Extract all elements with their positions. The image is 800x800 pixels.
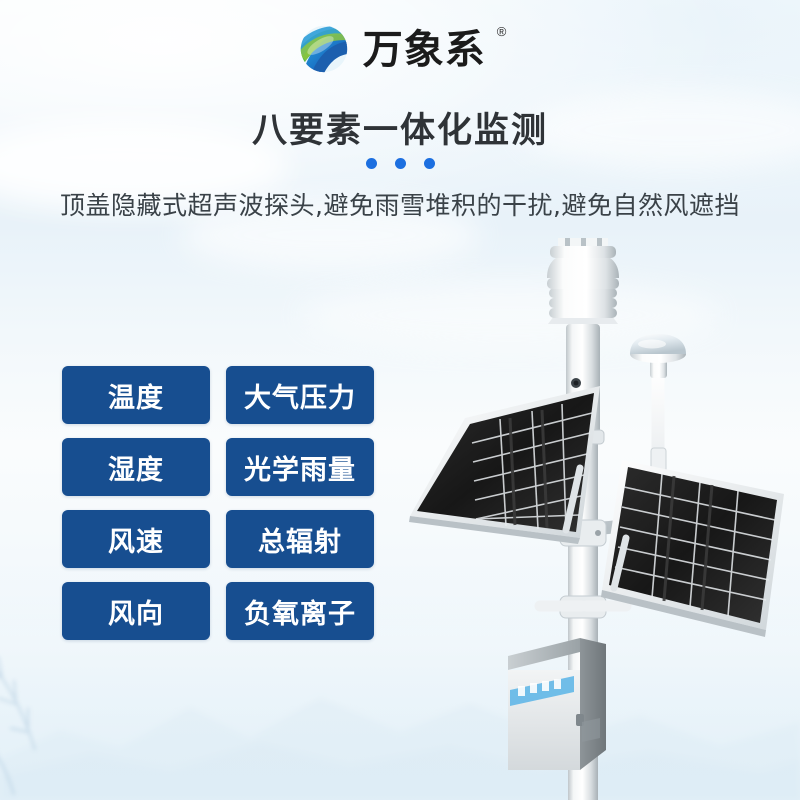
feature-tag[interactable]: 光学雨量 — [226, 438, 374, 496]
ultrasonic-sensor-head — [547, 238, 619, 324]
swirl-globe-icon — [295, 20, 353, 78]
feature-tag[interactable]: 总辐射 — [226, 510, 374, 568]
control-cabinet — [508, 638, 606, 770]
divider-dot-icon — [424, 158, 435, 169]
registered-trademark-icon: ® — [497, 24, 507, 39]
divider-dot-icon — [395, 158, 406, 169]
brand-name: 万象系 — [363, 30, 486, 70]
page-subtitle: 顶盖隐藏式超声波探头,避免雨雪堆积的干扰,避免自然风遮挡 — [0, 186, 800, 222]
solar-panel-left — [409, 386, 600, 544]
poster-canvas: 万象系 ® 八要素一体化监测 顶盖隐藏式超声波探头,避免雨雪堆积的干扰,避免自然… — [0, 0, 800, 800]
feature-tag[interactable]: 风向 — [62, 582, 210, 640]
divider-dots — [0, 158, 800, 169]
page-title: 八要素一体化监测 — [0, 102, 800, 153]
feature-tag[interactable]: 大气压力 — [226, 366, 374, 424]
divider-dot-icon — [366, 158, 377, 169]
feature-tag-grid: 温度 大气压力 湿度 光学雨量 风速 总辐射 风向 负氧离子 — [62, 366, 374, 640]
feature-tag[interactable]: 湿度 — [62, 438, 210, 496]
weather-station-illustration — [390, 238, 800, 800]
feature-tag[interactable]: 风速 — [62, 510, 210, 568]
feature-tag[interactable]: 温度 — [62, 366, 210, 424]
feature-tag[interactable]: 负氧离子 — [226, 582, 374, 640]
brand-logo: 万象系 ® — [0, 18, 800, 80]
